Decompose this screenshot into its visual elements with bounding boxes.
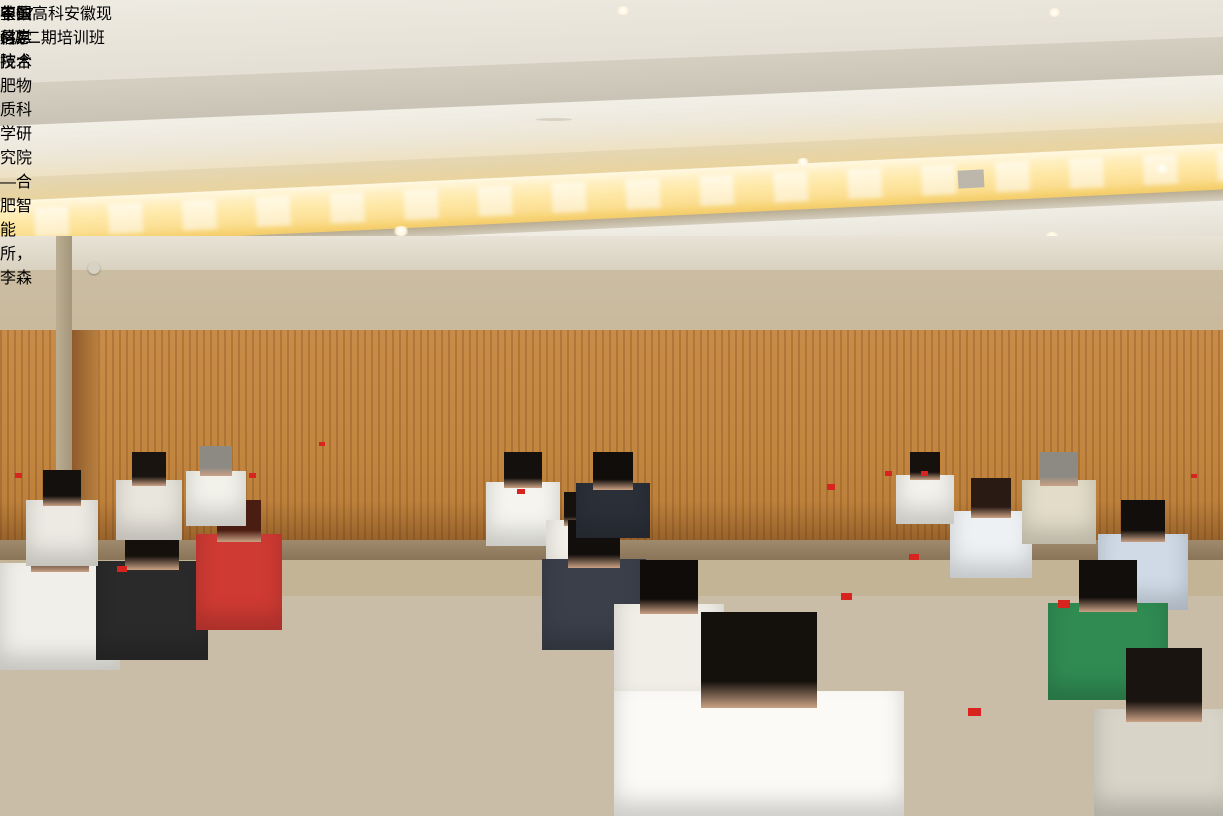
bottle-label bbox=[1056, 635, 1071, 654]
torso bbox=[196, 534, 282, 630]
chair-back bbox=[946, 600, 1006, 670]
attendee-right-white-blouse bbox=[950, 478, 1032, 578]
attendee-left-striped-shirt bbox=[96, 520, 208, 660]
bottle-label bbox=[908, 582, 920, 598]
paper-sheet bbox=[58, 672, 124, 688]
head bbox=[971, 478, 1011, 518]
paper-sheet bbox=[236, 600, 284, 612]
bottle-label bbox=[1190, 493, 1198, 504]
torso bbox=[1094, 709, 1223, 816]
attendee-right-front-glasses bbox=[1094, 648, 1223, 816]
head bbox=[43, 470, 81, 506]
head bbox=[1126, 648, 1202, 722]
bottle-label bbox=[516, 512, 526, 525]
head bbox=[1079, 560, 1137, 612]
conference-room-photo: 荃银高科安徽现 6级二期培训班 农业信息技术 中国科学院合肥物质科学研究院—合肥… bbox=[0, 0, 1223, 816]
torso bbox=[614, 691, 904, 816]
torso bbox=[576, 483, 650, 538]
torso bbox=[950, 511, 1032, 578]
water-bottle bbox=[318, 446, 326, 476]
bottle-cap bbox=[968, 708, 981, 716]
water-bottle bbox=[116, 572, 128, 618]
chair-back bbox=[520, 640, 582, 712]
bottle-cap bbox=[827, 484, 835, 490]
glass-tumbler bbox=[1028, 572, 1051, 626]
bottle-cap bbox=[517, 489, 525, 494]
bottle-cap bbox=[249, 473, 256, 478]
torso bbox=[186, 471, 246, 526]
water-bottle bbox=[920, 476, 929, 510]
torso bbox=[1022, 480, 1096, 544]
attendee-left-grey-hair bbox=[186, 446, 246, 526]
head bbox=[504, 452, 542, 488]
water-bottle bbox=[826, 490, 836, 530]
torso bbox=[116, 480, 182, 540]
bottle-label bbox=[966, 745, 982, 765]
attendee-front-white-shirt-man bbox=[614, 612, 904, 816]
head bbox=[1040, 452, 1078, 486]
water-bottle bbox=[14, 478, 23, 514]
attendee-left-ponytail bbox=[116, 452, 182, 540]
head bbox=[701, 612, 817, 708]
water-bottle bbox=[884, 476, 893, 510]
torso bbox=[26, 500, 98, 566]
head bbox=[593, 452, 633, 490]
bottle-label bbox=[920, 492, 929, 504]
bottle-label bbox=[14, 495, 23, 507]
attendee-left-white-back bbox=[26, 470, 98, 566]
water-bottle bbox=[1056, 608, 1071, 664]
water-bottle bbox=[966, 716, 982, 776]
water-bottle bbox=[908, 560, 920, 606]
chair-back bbox=[296, 610, 342, 666]
bottle-label bbox=[116, 594, 128, 610]
bottle-cap bbox=[117, 566, 127, 572]
bottle-label bbox=[248, 494, 257, 506]
bottle-cap bbox=[1058, 600, 1070, 608]
torso bbox=[96, 561, 208, 660]
bottle-cap bbox=[841, 593, 852, 600]
water-bottle bbox=[248, 478, 257, 512]
bottle-cap bbox=[1191, 474, 1197, 478]
paper-cup bbox=[296, 452, 309, 470]
head bbox=[200, 446, 232, 476]
audience-layer bbox=[0, 0, 1223, 816]
bottle-label bbox=[884, 492, 893, 504]
head bbox=[640, 560, 698, 614]
bottle-cap bbox=[15, 473, 22, 478]
bottle-cap bbox=[921, 471, 928, 476]
bottle-cap bbox=[909, 554, 919, 560]
head bbox=[132, 452, 166, 486]
bottle-label bbox=[318, 460, 326, 470]
bottle-cap bbox=[885, 471, 892, 476]
bottle-label bbox=[840, 625, 854, 643]
attendee-right-beige-polo bbox=[1022, 452, 1096, 544]
water-bottle bbox=[516, 494, 526, 532]
bottle-cap bbox=[319, 442, 325, 446]
attendee-center-dark-hair bbox=[576, 452, 650, 538]
head bbox=[1121, 500, 1165, 542]
paper-cup bbox=[1040, 548, 1056, 570]
bottle-label bbox=[826, 509, 836, 523]
water-bottle bbox=[1190, 478, 1198, 510]
water-bottle bbox=[840, 600, 854, 652]
